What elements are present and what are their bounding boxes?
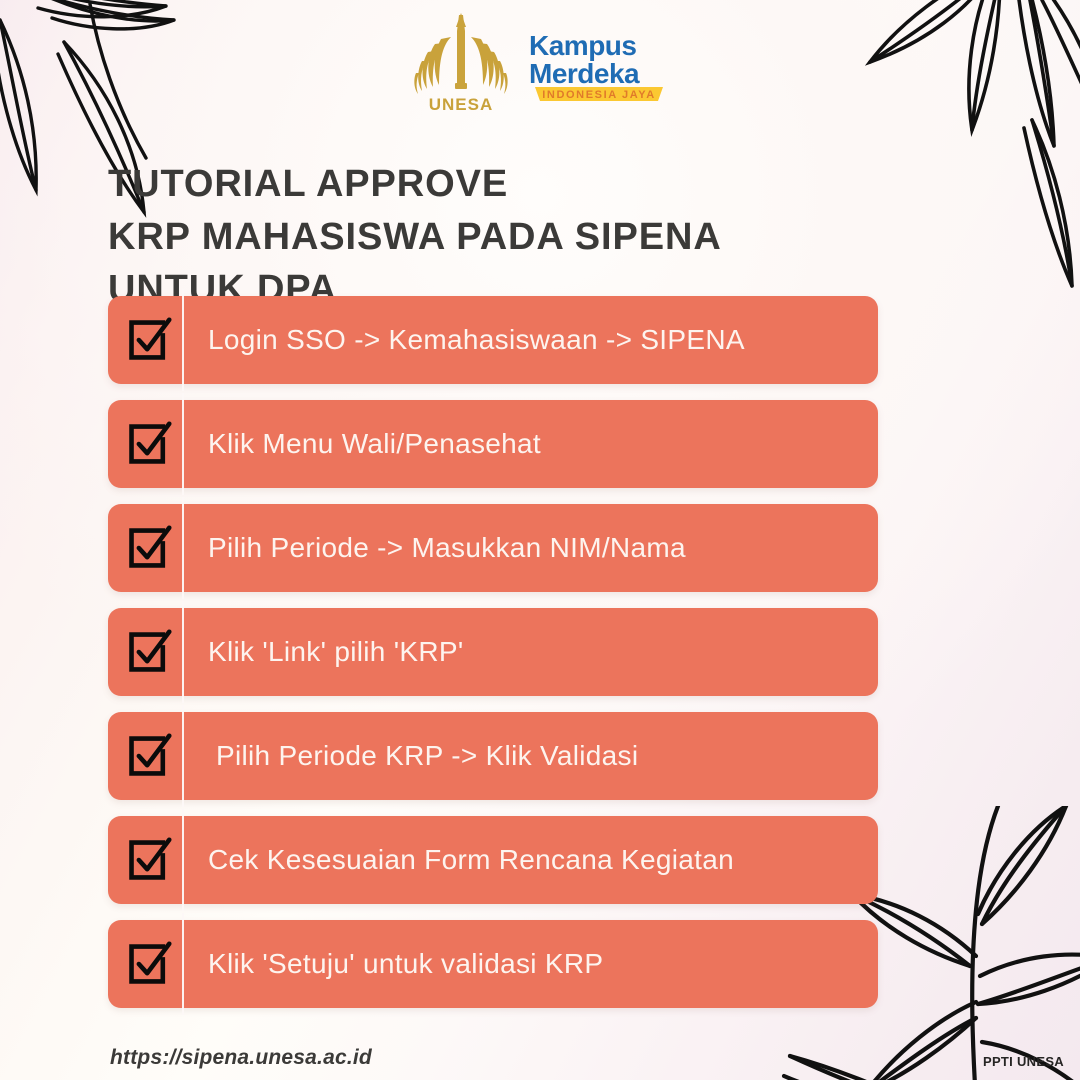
svg-text:Merdeka: Merdeka bbox=[529, 58, 640, 89]
title-line-1: TUTORIAL APPROVE bbox=[108, 158, 968, 210]
checkbox-cell[interactable] bbox=[108, 525, 186, 571]
checklist-item: Klik Menu Wali/Penasehat bbox=[108, 400, 878, 488]
svg-text:UNESA: UNESA bbox=[429, 95, 494, 114]
checklist-item-label: Klik 'Link' pilih 'KRP' bbox=[186, 636, 878, 668]
checklist-item-label: Klik Menu Wali/Penasehat bbox=[186, 428, 878, 460]
checkbox-cell[interactable] bbox=[108, 317, 186, 363]
checklist-item: Login SSO -> Kemahasiswaan -> SIPENA bbox=[108, 296, 878, 384]
page-title: TUTORIAL APPROVE KRP MAHASISWA PADA SIPE… bbox=[108, 158, 968, 314]
checklist-item-label: Pilih Periode -> Masukkan NIM/Nama bbox=[186, 532, 878, 564]
row-divider bbox=[182, 289, 184, 391]
svg-text:INDONESIA JAYA: INDONESIA JAYA bbox=[542, 89, 656, 101]
svg-text:Kampus: Kampus bbox=[529, 30, 636, 61]
checkbox-cell[interactable] bbox=[108, 733, 186, 779]
row-divider bbox=[182, 705, 184, 807]
checklist-item: Cek Kesesuaian Form Rencana Kegiatan bbox=[108, 816, 878, 904]
kampus-merdeka-logo: Kampus Merdeka INDONESIA JAYA bbox=[527, 25, 667, 103]
row-divider bbox=[182, 913, 184, 1015]
checkbox-checked-icon[interactable] bbox=[126, 525, 172, 571]
checkbox-checked-icon[interactable] bbox=[126, 733, 172, 779]
unesa-logo: UNESA bbox=[413, 11, 509, 115]
credit-label: PPTI UNESA bbox=[983, 1054, 1064, 1069]
footer-url[interactable]: https://sipena.unesa.ac.id bbox=[110, 1046, 372, 1070]
checklist-item: Klik 'Link' pilih 'KRP' bbox=[108, 608, 878, 696]
title-line-2: KRP MAHASISWA PADA SIPENA bbox=[108, 211, 968, 263]
checklist-item: Pilih Periode -> Masukkan NIM/Nama bbox=[108, 504, 878, 592]
checkbox-checked-icon[interactable] bbox=[126, 421, 172, 467]
checklist-item-label: Cek Kesesuaian Form Rencana Kegiatan bbox=[186, 844, 878, 876]
checklist-item-label: Login SSO -> Kemahasiswaan -> SIPENA bbox=[186, 324, 878, 356]
checkbox-checked-icon[interactable] bbox=[126, 837, 172, 883]
checkbox-cell[interactable] bbox=[108, 421, 186, 467]
checkbox-checked-icon[interactable] bbox=[126, 629, 172, 675]
row-divider bbox=[182, 809, 184, 911]
checklist-item-label: Pilih Periode KRP -> Klik Validasi bbox=[186, 740, 878, 772]
checkbox-checked-icon[interactable] bbox=[126, 941, 172, 987]
checkbox-cell[interactable] bbox=[108, 629, 186, 675]
checklist: Login SSO -> Kemahasiswaan -> SIPENA Kli… bbox=[108, 296, 878, 1008]
poster-canvas: UNESA Kampus Merdeka INDONESIA JAYA TUTO… bbox=[0, 0, 1080, 1080]
checkbox-checked-icon[interactable] bbox=[126, 317, 172, 363]
row-divider bbox=[182, 393, 184, 495]
row-divider bbox=[182, 601, 184, 703]
checklist-item: Pilih Periode KRP -> Klik Validasi bbox=[108, 712, 878, 800]
checkbox-cell[interactable] bbox=[108, 941, 186, 987]
logo-row: UNESA Kampus Merdeka INDONESIA JAYA bbox=[0, 8, 1080, 118]
checklist-item-label: Klik 'Setuju' untuk validasi KRP bbox=[186, 948, 878, 980]
checklist-item: Klik 'Setuju' untuk validasi KRP bbox=[108, 920, 878, 1008]
row-divider bbox=[182, 497, 184, 599]
checkbox-cell[interactable] bbox=[108, 837, 186, 883]
